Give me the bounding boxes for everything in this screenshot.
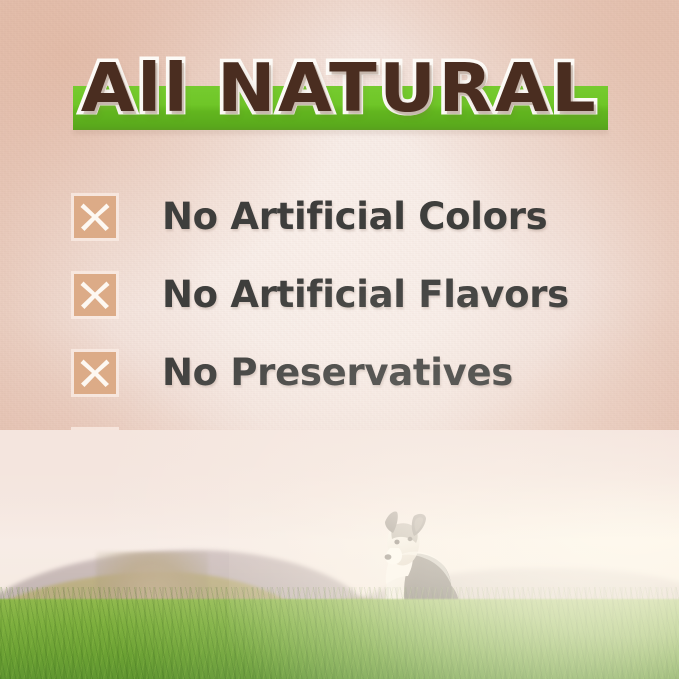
x-mark-icon xyxy=(74,196,116,238)
photo-grass-texture xyxy=(0,587,679,679)
claim-label: No Artificial Flavors xyxy=(162,274,569,316)
x-mark-icon xyxy=(74,352,116,394)
product-feature-card: All NATURAL No Artificial Colors No Arti… xyxy=(0,0,679,679)
claim-row: No Artificial Colors xyxy=(74,178,634,256)
x-mark-icon xyxy=(74,274,116,316)
claim-label: No Artificial Colors xyxy=(162,196,547,238)
lifestyle-photo xyxy=(0,430,679,679)
claim-label: No Preservatives xyxy=(162,352,513,394)
claim-row: No Preservatives xyxy=(74,334,634,412)
headline-title: All NATURAL xyxy=(0,49,679,127)
claim-row: No Artificial Flavors xyxy=(74,256,634,334)
